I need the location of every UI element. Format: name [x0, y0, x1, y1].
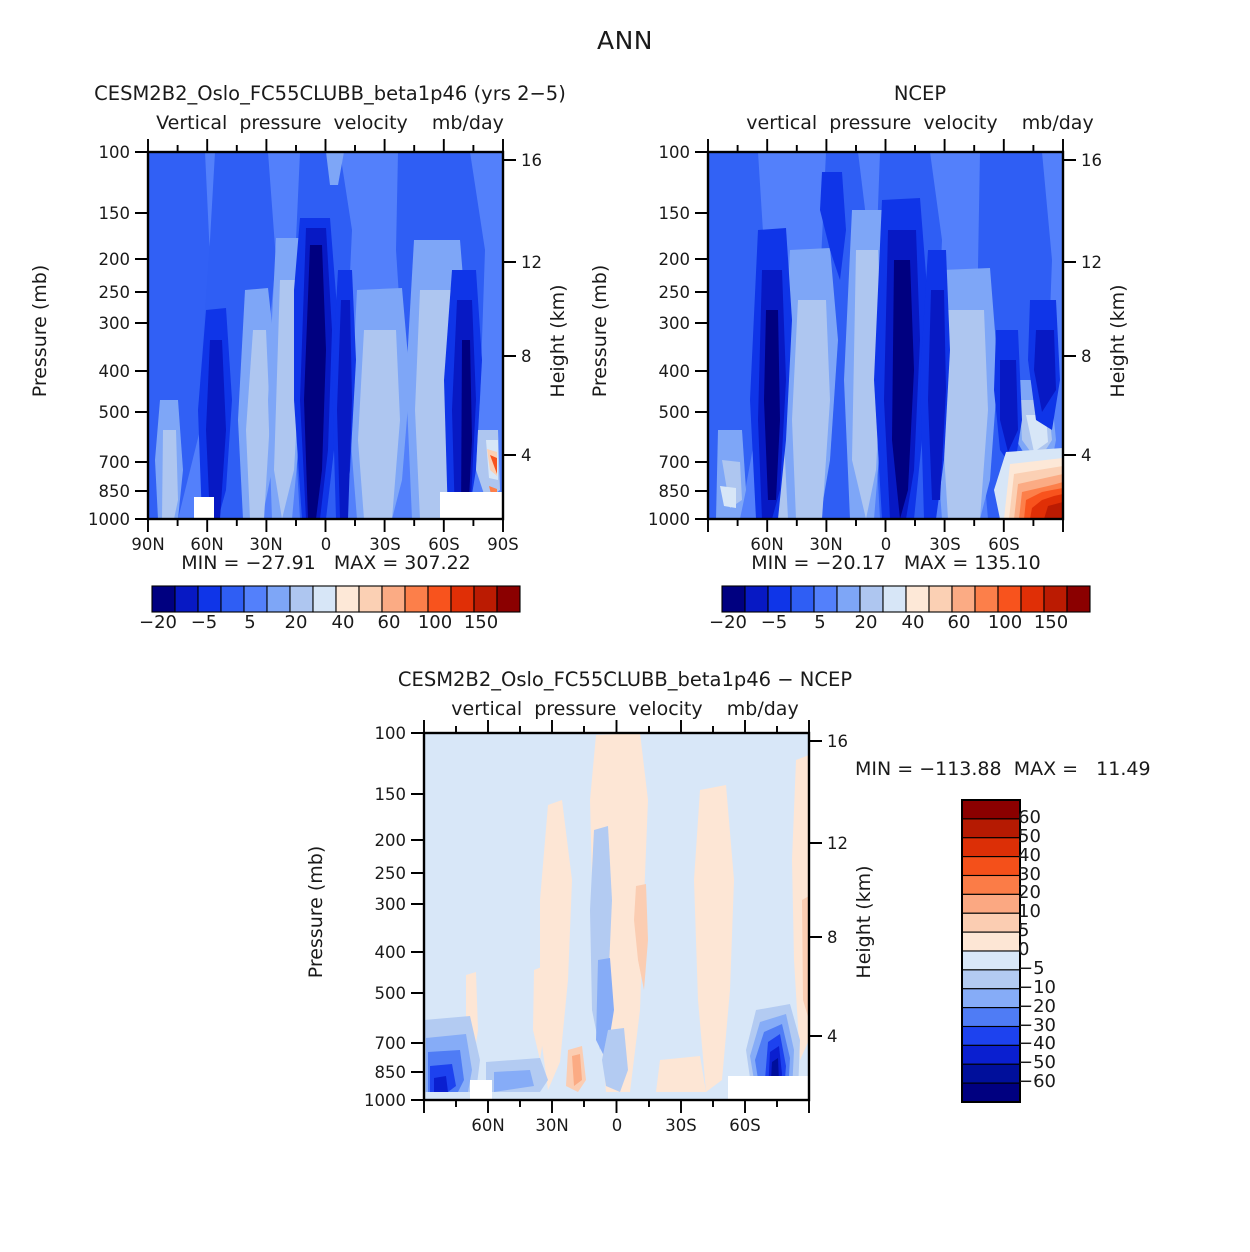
diff-xtick-0: 0 — [587, 1116, 647, 1135]
colorbar-cell — [962, 1027, 1020, 1046]
colorbar-cell — [962, 800, 1020, 819]
colorbar-cell — [962, 1008, 1020, 1027]
colorbar-cell — [962, 989, 1020, 1008]
diff-cb-label-0: 60 — [1018, 807, 1041, 828]
diff-y2tick-12: 12 — [827, 834, 848, 853]
diff-y2tick-8: 8 — [827, 928, 838, 947]
diff-xtick-30S: 30S — [651, 1116, 711, 1135]
diff-y2tick-4: 4 — [827, 1027, 838, 1046]
colorbar-cell — [962, 913, 1020, 932]
colorbar-cell — [962, 819, 1020, 838]
diff-y2axis-ticks — [809, 741, 822, 1036]
colorbar-cell — [962, 1045, 1020, 1064]
diff-cb-label-6: 5 — [1018, 920, 1029, 941]
diff-xaxis-ticks — [424, 1100, 809, 1113]
colorbar-cell — [962, 876, 1020, 895]
diff-y2axis-title: Height (km) — [853, 842, 875, 1002]
diff-xtick-30N: 30N — [522, 1116, 582, 1135]
diff-plot — [0, 0, 1250, 1252]
diff-xtick-60S: 60S — [715, 1116, 775, 1135]
diff-ytick-300: 300 — [364, 895, 406, 914]
diff-xtick-60N: 60N — [458, 1116, 518, 1135]
diff-cb-label-3: 30 — [1018, 864, 1041, 885]
diff-ytick-100: 100 — [364, 724, 406, 743]
diff-cb-label-12: −40 — [1018, 1033, 1056, 1054]
diff-ytick-250: 250 — [364, 864, 406, 883]
diff-xaxis-top-ticks — [424, 720, 809, 733]
diff-cb-label-14: −60 — [1018, 1071, 1056, 1092]
diff-ytick-500: 500 — [364, 984, 406, 1003]
diff-ytick-1000: 1000 — [354, 1091, 406, 1110]
diff-ytick-400: 400 — [364, 943, 406, 962]
diff-cb-label-7: 0 — [1018, 939, 1029, 960]
colorbar-cell — [962, 970, 1020, 989]
colorbar-cell — [962, 857, 1020, 876]
diff-ytick-850: 850 — [364, 1063, 406, 1082]
diff-ytick-200: 200 — [364, 831, 406, 850]
colorbar-cell — [962, 894, 1020, 913]
colorbar-cell — [962, 951, 1020, 970]
diff-minmax: MIN = −113.88 MAX = 11.49 — [855, 758, 1151, 780]
diff-cb-label-11: −30 — [1018, 1015, 1056, 1036]
colorbar-cell — [962, 932, 1020, 951]
diff-cb-label-2: 40 — [1018, 845, 1041, 866]
diff-cb-label-8: −5 — [1018, 958, 1045, 979]
diff-contour-field — [424, 733, 809, 1100]
colorbar-cell — [962, 1064, 1020, 1083]
diff-ytick-150: 150 — [364, 785, 406, 804]
diff-yaxis-ticks — [411, 733, 424, 1100]
colorbar-cell — [962, 838, 1020, 857]
diff-cb-label-10: −20 — [1018, 996, 1056, 1017]
diff-y2tick-16: 16 — [827, 732, 848, 751]
diff-cb-label-4: 20 — [1018, 882, 1041, 903]
diff-ytick-700: 700 — [364, 1034, 406, 1053]
colorbar-cell — [962, 1083, 1020, 1102]
diff-yaxis-title: Pressure (mb) — [305, 827, 327, 997]
